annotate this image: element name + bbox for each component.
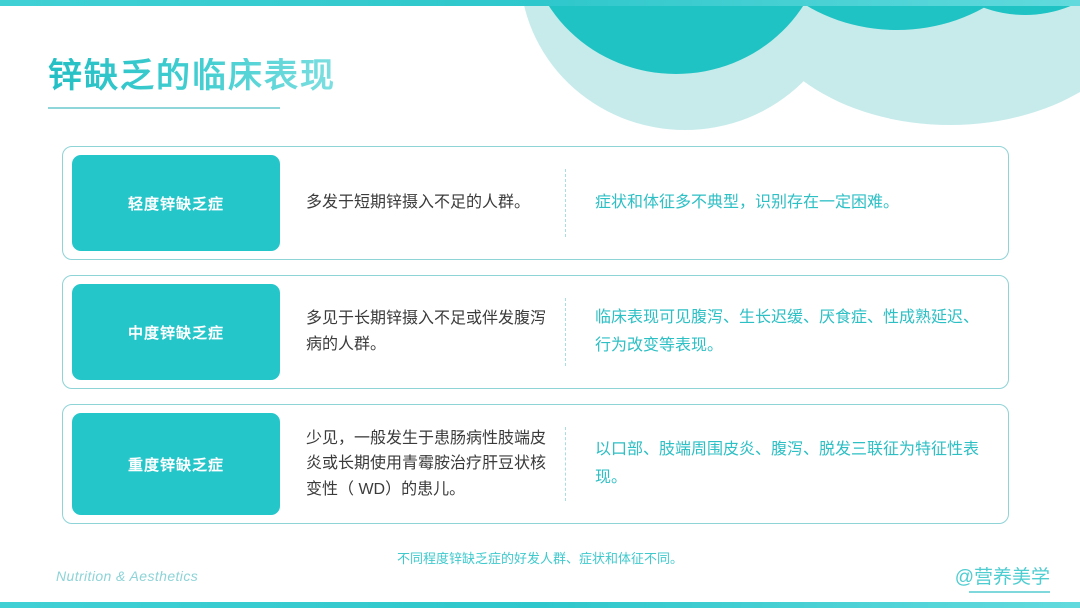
cloud-dark-lobe-1: [526, 0, 826, 74]
title-block: 锌缺乏的临床表现: [48, 58, 336, 109]
footer-brand-english: Nutrition & Aesthetics: [56, 568, 198, 584]
top-accent-bar: [0, 0, 1080, 6]
footer-summary-caption: 不同程度锌缺乏症的好发人群、症状和体征不同。: [0, 548, 1080, 567]
title-underline-rule: [48, 107, 280, 109]
population-description-severe: 少见，一般发生于患肠病性肢端皮炎或长期使用青霉胺治疗肝豆状核变性（ WD）的患儿…: [280, 405, 565, 523]
symptom-note-moderate: 临床表现可见腹泻、生长迟缓、厌食症、性成熟延迟、行为改变等表现。: [567, 276, 1008, 388]
cloud-light-lobe-2: [750, 0, 1080, 125]
page-title: 锌缺乏的临床表现: [48, 58, 336, 95]
footer-handle-text: @营养美学: [955, 562, 1050, 589]
table-row: 重度锌缺乏症 少见，一般发生于患肠病性肢端皮炎或长期使用青霉胺治疗肝豆状核变性（…: [62, 404, 1009, 524]
symptom-note-mild: 症状和体征多不典型，识别存在一定困难。: [567, 147, 1008, 259]
severity-label-mild: 轻度锌缺乏症: [72, 155, 280, 251]
population-description-moderate: 多见于长期锌摄入不足或伴发腹泻病的人群。: [280, 276, 565, 388]
cloud-light-lobe-3: [958, 0, 1080, 80]
content-card-list: 轻度锌缺乏症 多发于短期锌摄入不足的人群。 症状和体征多不典型，识别存在一定困难…: [62, 146, 1009, 524]
footer-handle-underline: [969, 591, 1050, 593]
table-row: 中度锌缺乏症 多见于长期锌摄入不足或伴发腹泻病的人群。 临床表现可见腹泻、生长迟…: [62, 275, 1009, 389]
severity-label-severe: 重度锌缺乏症: [72, 413, 280, 515]
decorative-cloud-graphic: [480, 0, 1080, 150]
population-description-mild: 多发于短期锌摄入不足的人群。: [280, 147, 565, 259]
footer-handle: @营养美学: [955, 562, 1050, 593]
table-row: 轻度锌缺乏症 多发于短期锌摄入不足的人群。 症状和体征多不典型，识别存在一定困难…: [62, 146, 1009, 260]
slide-root: 锌缺乏的临床表现 轻度锌缺乏症 多发于短期锌摄入不足的人群。 症状和体征多不典型…: [0, 0, 1080, 608]
bottom-accent-bar: [0, 602, 1080, 608]
symptom-note-severe: 以口部、肢端周围皮炎、腹泻、脱发三联征为特征性表现。: [567, 405, 1008, 523]
severity-label-moderate: 中度锌缺乏症: [72, 284, 280, 380]
cloud-light-lobe-1: [520, 0, 850, 130]
